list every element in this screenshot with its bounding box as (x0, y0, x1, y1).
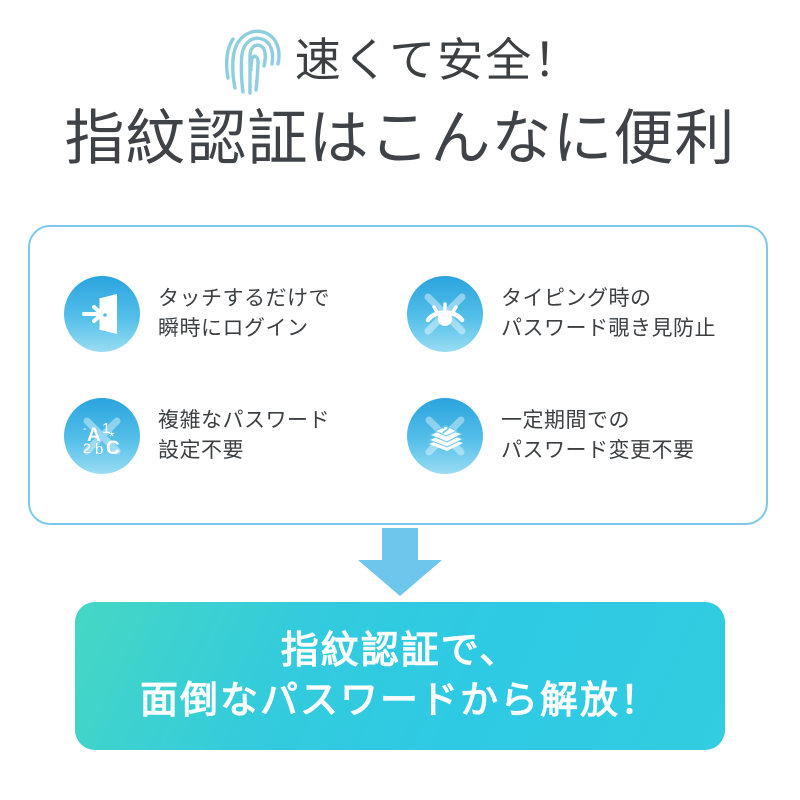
eye-crossed-out-icon (407, 276, 483, 352)
svg-text:2: 2 (83, 440, 91, 456)
page-title: 指紋認証はこんなに便利 (0, 104, 800, 173)
feature-line-2: パスワード変更不要 (501, 439, 695, 462)
feature-label: タイピング時の パスワード覗き見防止 (501, 284, 716, 344)
feature-item: 一定期間での パスワード変更不要 (407, 375, 750, 497)
feature-line-1: 複雑なパスワード (158, 409, 330, 432)
infographic-page: 速くて安全！ 指紋認証はこんなに便利 (0, 0, 800, 800)
fingerprint-icon (219, 24, 281, 96)
login-door-icon (64, 276, 140, 352)
feature-label: 一定期間での パスワード変更不要 (501, 406, 695, 466)
features-card: タッチするだけで 瞬時にログイン タイピング (28, 225, 768, 525)
features-grid: タッチするだけで 瞬時にログイン タイピング (30, 227, 766, 523)
svg-text:C: C (106, 438, 120, 459)
feature-line-1: 一定期間での (501, 409, 630, 432)
feature-line-1: タイピング時の (501, 287, 652, 310)
eyebrow-row: 速くて安全！ (0, 24, 800, 96)
feature-line-1: タッチするだけで (158, 287, 330, 310)
svg-text:b: b (95, 441, 103, 458)
banner-line-1: 指紋認証で、 (281, 626, 519, 676)
conclusion-banner: 指紋認証で、 面倒なパスワードから解放！ (75, 602, 725, 750)
feature-item: タッチするだけで 瞬時にログイン (64, 253, 407, 375)
feature-line-2: パスワード覗き見防止 (501, 317, 716, 340)
feature-label: 複雑なパスワード 設定不要 (158, 406, 330, 466)
password-characters-crossed-out-icon: - A 1 * 2 b C (64, 398, 140, 474)
feature-item: - A 1 * 2 b C 複雑なパスワード 設定不要 (64, 375, 407, 497)
feature-line-2: 瞬時にログイン (158, 317, 309, 340)
feature-item: タイピング時の パスワード覗き見防止 (407, 253, 750, 375)
feature-line-2: 設定不要 (158, 439, 244, 462)
feature-label: タッチするだけで 瞬時にログイン (158, 284, 330, 344)
banner-line-2: 面倒なパスワードから解放！ (140, 676, 660, 726)
documents-stack-crossed-out-icon (407, 398, 483, 474)
eyebrow-text: 速くて安全！ (295, 37, 582, 83)
arrow-down-icon (352, 528, 448, 598)
